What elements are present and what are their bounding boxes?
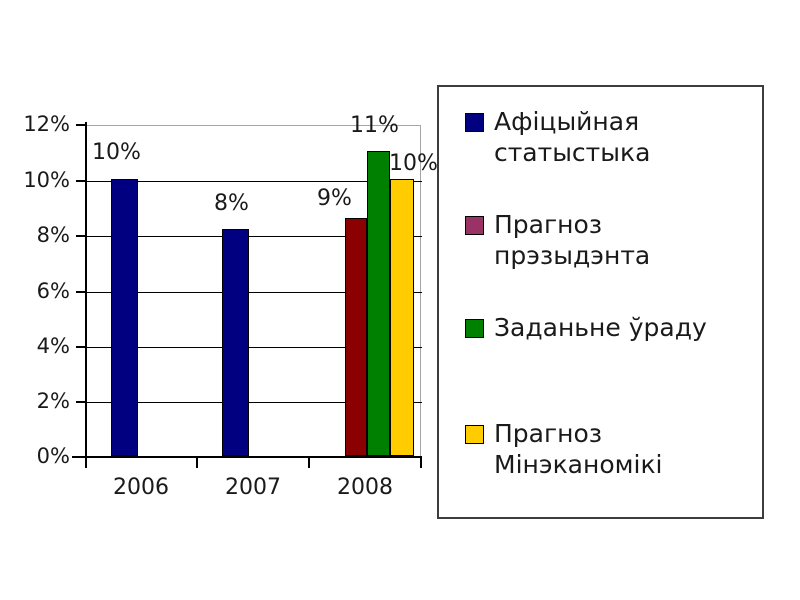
y-axis-label-8pct: 8% xyxy=(0,225,70,246)
legend-swatch-navy xyxy=(465,113,484,132)
y-axis-label-6pct: 6% xyxy=(0,281,70,302)
bar-2008-government xyxy=(367,151,390,456)
y-axis-label-2pct: 2% xyxy=(0,391,70,412)
bar-chart: 12% 10% 8% 6% 4% 2% 0% 2006 2007 2008 10… xyxy=(0,0,800,600)
x-tick-2006 xyxy=(196,457,198,468)
y-tick-12pct xyxy=(76,124,86,126)
y-tick-8pct xyxy=(76,235,86,237)
y-tick-10pct xyxy=(76,180,86,182)
legend-swatch-magenta xyxy=(465,216,484,235)
x-axis-label-2008: 2008 xyxy=(305,477,425,499)
legend-item-government-task[interactable]: Заданьне ўраду xyxy=(465,313,707,344)
legend-item-official-statistics[interactable]: Афіцыйная статыстыка xyxy=(465,107,650,168)
x-tick-2007 xyxy=(308,457,310,468)
chart-legend: Афіцыйная статыстыка Прагноз прэзыдэнта … xyxy=(437,85,764,519)
x-axis-label-2006: 2006 xyxy=(81,477,201,499)
y-tick-2pct xyxy=(76,401,86,403)
legend-label-mineconomy-forecast: Прагноз Мінэканомікі xyxy=(494,419,663,480)
legend-item-president-forecast[interactable]: Прагноз прэзыдэнта xyxy=(465,210,650,271)
legend-swatch-yellow xyxy=(465,425,484,444)
y-axis-label-0pct: 0% xyxy=(0,446,70,467)
data-label-2008-president: 9% xyxy=(317,188,352,210)
data-label-2006-official: 10% xyxy=(92,142,141,164)
y-axis-label-4pct: 4% xyxy=(0,336,70,357)
x-tick-left xyxy=(85,457,87,468)
x-axis-label-2007: 2007 xyxy=(193,477,313,499)
x-tick-right xyxy=(420,457,422,468)
data-label-2008-government: 11% xyxy=(350,115,399,137)
y-tick-6pct xyxy=(76,291,86,293)
bar-2008-president xyxy=(345,218,367,456)
legend-swatch-green xyxy=(465,319,484,338)
y-axis-label-12pct: 12% xyxy=(0,114,70,135)
bar-2007-official xyxy=(222,229,249,456)
bar-2008-mineconomy xyxy=(390,179,414,456)
bar-2006-official xyxy=(111,179,138,456)
legend-label-government-task: Заданьне ўраду xyxy=(494,313,707,344)
plot-area xyxy=(85,125,421,457)
data-label-2007-official: 8% xyxy=(214,193,249,215)
legend-label-official-statistics: Афіцыйная статыстыка xyxy=(494,107,650,168)
legend-item-mineconomy-forecast[interactable]: Прагноз Мінэканомікі xyxy=(465,419,663,480)
data-label-2008-mineconomy: 10% xyxy=(389,153,438,175)
legend-label-president-forecast: Прагноз прэзыдэнта xyxy=(494,210,650,271)
x-axis-line xyxy=(72,456,422,458)
y-tick-4pct xyxy=(76,346,86,348)
y-axis-label-10pct: 10% xyxy=(0,170,70,191)
